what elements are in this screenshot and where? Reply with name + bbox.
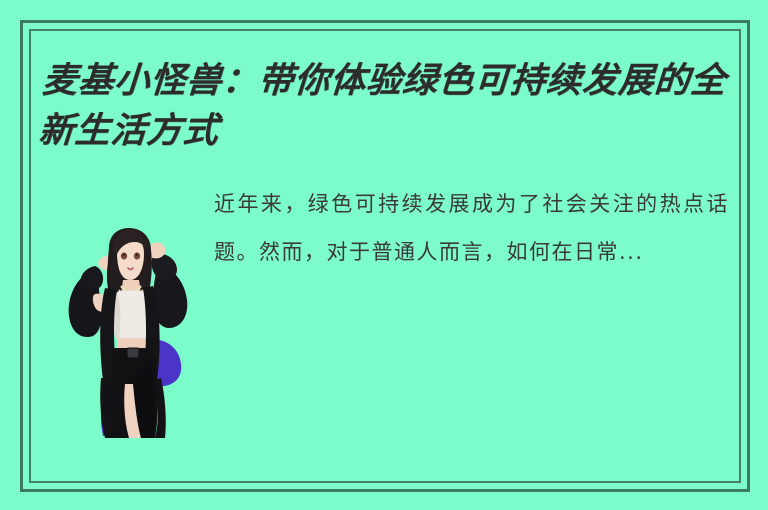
illustration-image — [55, 228, 201, 440]
article-body-text: 近年来，绿色可持续发展成为了社会关注的热点话题。然而，对于普通人而言，如何在日常… — [214, 180, 729, 276]
article-card: 麦基小怪兽：带你体验绿色可持续发展的全新生活方式 — [0, 0, 768, 510]
page-title: 麦基小怪兽：带你体验绿色可持续发展的全新生活方式 — [37, 56, 734, 156]
anime-figure-icon — [55, 228, 201, 440]
